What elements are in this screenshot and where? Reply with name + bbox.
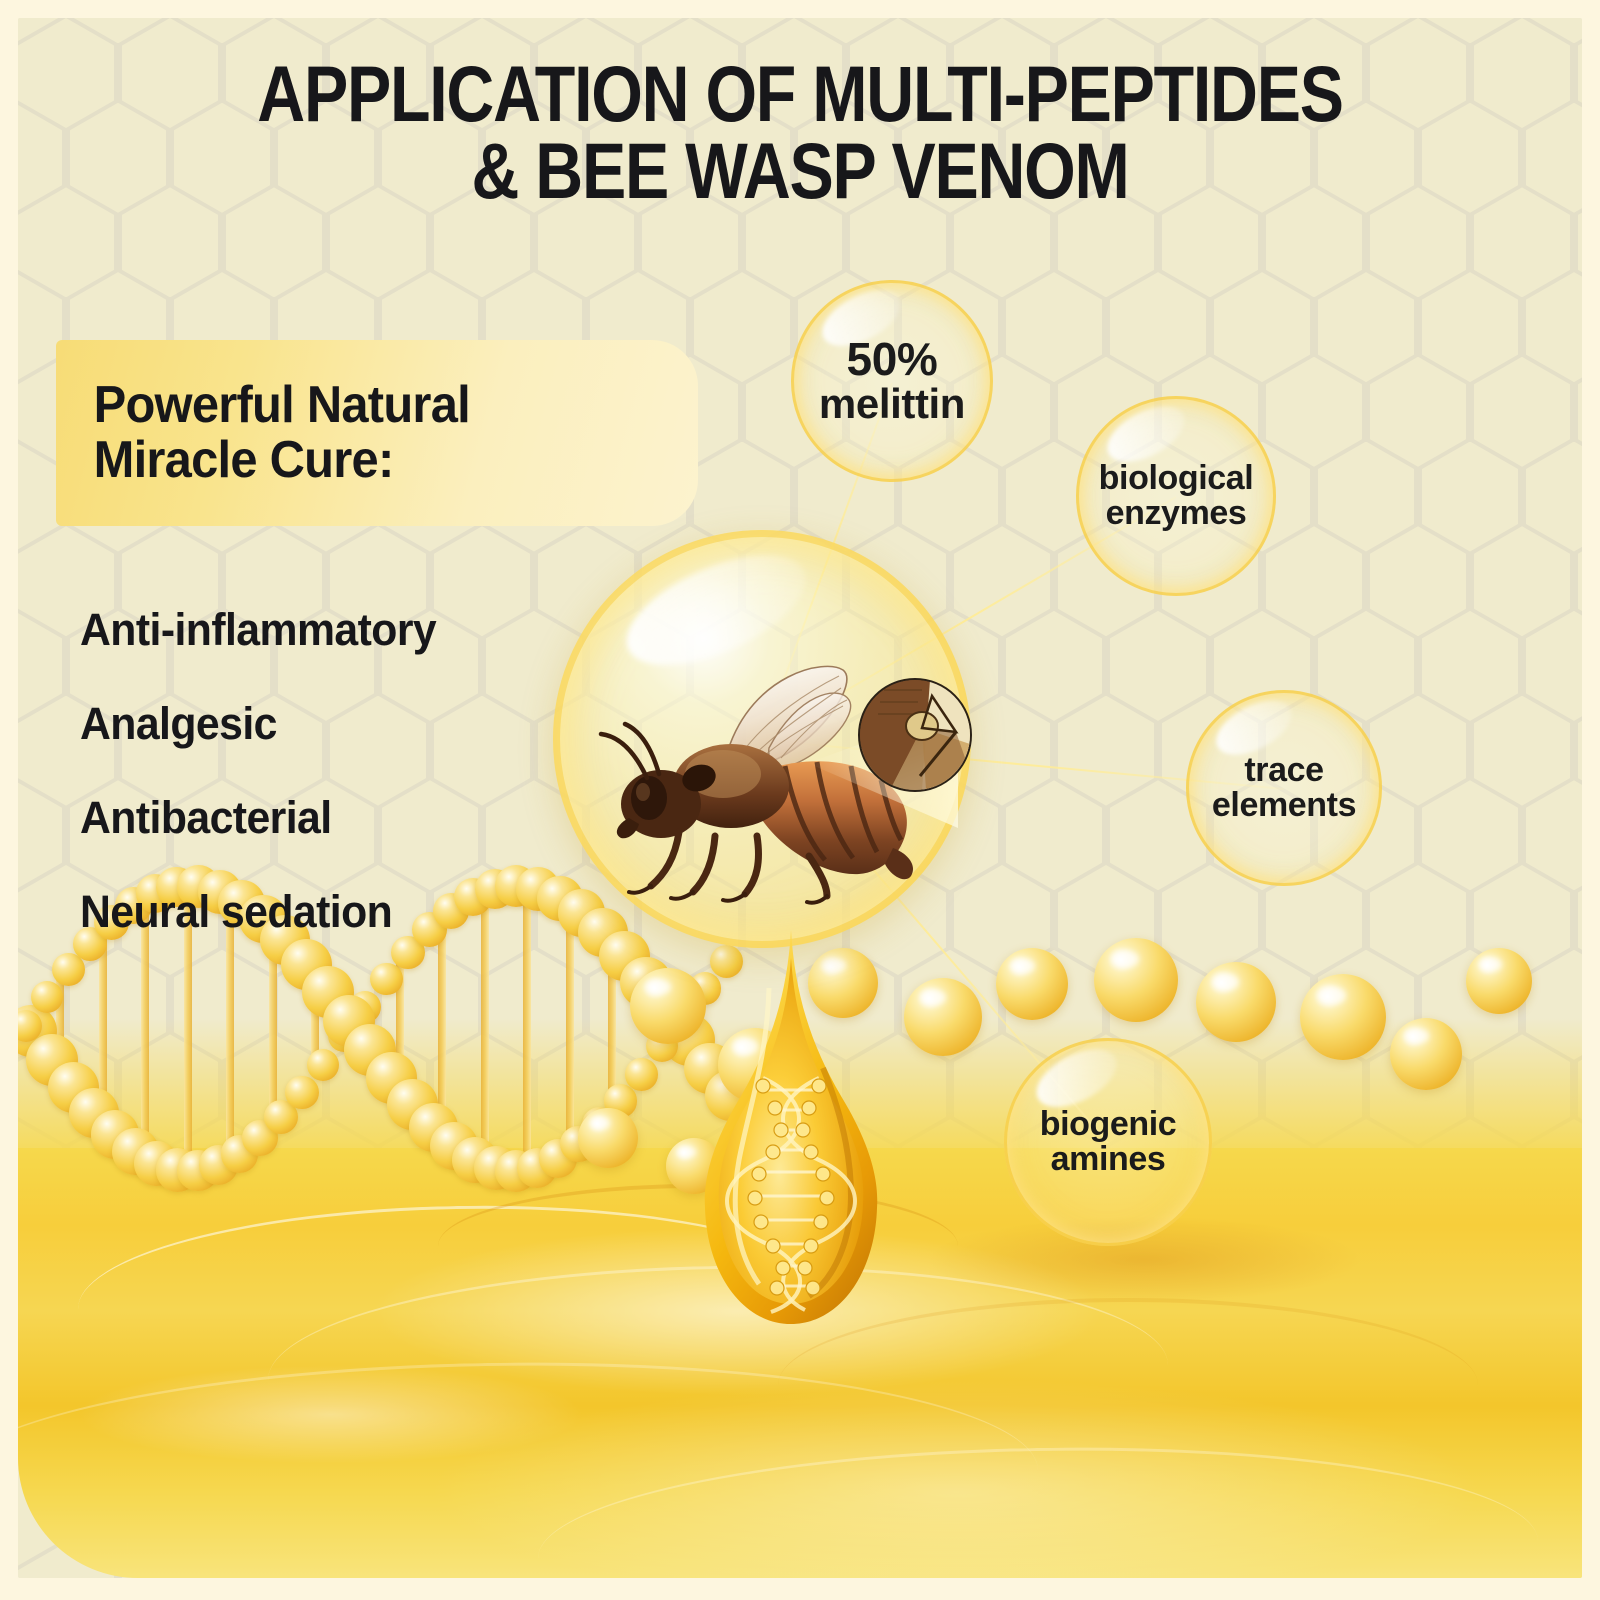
- page-title: APPLICATION OF MULTI-PEPTIDES & BEE WASP…: [143, 56, 1457, 209]
- enzymes-line-2: enzymes: [1099, 496, 1254, 531]
- headline-banner-text: Powerful Natural Miracle Cure:: [56, 378, 470, 488]
- component-bubble-trace-elements: trace elements: [1186, 690, 1382, 886]
- headline-banner: Powerful Natural Miracle Cure:: [56, 340, 698, 526]
- amines-line-2: amines: [1040, 1142, 1177, 1177]
- banner-line-1: Powerful Natural: [94, 378, 470, 433]
- melittin-percent: 50%: [819, 336, 965, 383]
- enzymes-line-1: biological: [1099, 461, 1254, 496]
- component-bubble-melittin: 50% melittin: [791, 280, 993, 482]
- trace-line-1: trace: [1212, 753, 1356, 788]
- melittin-name: melittin: [819, 383, 965, 426]
- stinger-inset-circle: [858, 678, 972, 792]
- poster-canvas: APPLICATION OF MULTI-PEPTIDES & BEE WASP…: [18, 18, 1582, 1578]
- component-bubble-enzymes: biological enzymes: [1076, 396, 1276, 596]
- list-item: Analgesic: [80, 698, 612, 750]
- component-bubble-label: trace elements: [1212, 753, 1356, 822]
- title-line-2: & BEE WASP VENOM: [143, 133, 1457, 210]
- benefits-list: Anti-inflammatory Analgesic Antibacteria…: [80, 604, 640, 980]
- component-bubble-biogenic-amines: biogenic amines: [1004, 1038, 1212, 1246]
- banner-line-2: Miracle Cure:: [94, 433, 470, 488]
- honey-droplet: [663, 928, 923, 1348]
- list-item: Anti-inflammatory: [80, 604, 612, 656]
- component-bubble-label: 50% melittin: [819, 336, 965, 426]
- title-line-1: APPLICATION OF MULTI-PEPTIDES: [143, 56, 1457, 133]
- list-item: Neural sedation: [80, 886, 612, 938]
- trace-line-2: elements: [1212, 788, 1356, 823]
- list-item: Antibacterial: [80, 792, 612, 844]
- component-bubble-label: biological enzymes: [1099, 461, 1254, 530]
- component-bubble-label: biogenic amines: [1040, 1107, 1177, 1176]
- amines-line-1: biogenic: [1040, 1107, 1177, 1142]
